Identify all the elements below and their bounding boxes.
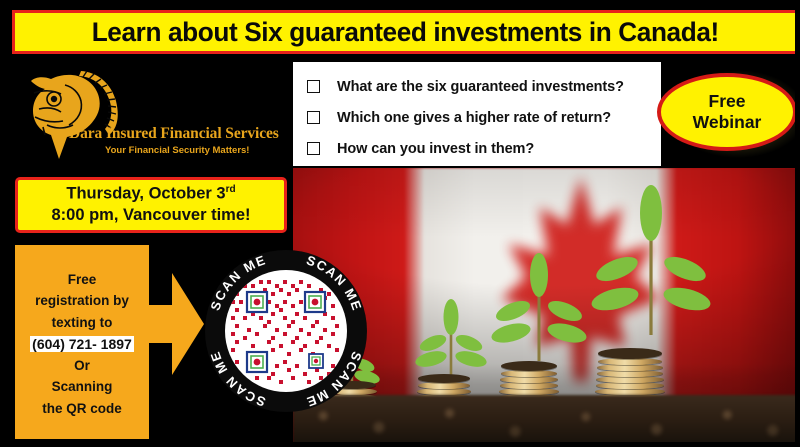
checkbox-icon — [307, 80, 320, 93]
question-text: What are the six guaranteed investments? — [337, 79, 624, 95]
right-arrow-icon — [146, 269, 204, 379]
registration-line-2: registration by — [35, 290, 129, 311]
qr-code-badge[interactable]: SCAN ME SCAN ME SCAN ME SCAN ME — [205, 250, 367, 412]
qr-finder-top-left — [247, 292, 267, 312]
event-datetime-bar: Thursday, October 3rd 8:00 pm, Vancouver… — [15, 177, 287, 233]
page-title: Learn about Six guaranteed investments i… — [91, 17, 718, 48]
badge-line-2: Webinar — [693, 112, 762, 133]
question-item: What are the six guaranteed investments? — [301, 71, 661, 102]
qr-finder-bottom-left — [247, 352, 267, 372]
flag-plants-photo — [293, 168, 798, 447]
badge-line-1: Free — [709, 91, 746, 112]
questions-panel: What are the six guaranteed investments?… — [293, 62, 661, 166]
qr-finder-top-right — [305, 292, 325, 312]
registration-line-1: Free — [68, 269, 97, 290]
question-item: How can you invest in them? — [301, 133, 661, 164]
question-text: Which one gives a higher rate of return? — [337, 110, 611, 126]
brand-logo-block: Dara Insured Financial Services Your Fin… — [13, 61, 289, 167]
title-banner: Learn about Six guaranteed investments i… — [12, 10, 798, 54]
registration-line-3: texting to — [52, 312, 113, 333]
poster-root: Learn about Six guaranteed investments i… — [0, 0, 800, 447]
soil-texture — [293, 395, 798, 447]
logo-tagline: Your Financial Security Matters! — [105, 145, 295, 156]
event-time: 8:00 pm, Vancouver time! — [52, 205, 251, 226]
question-text: How can you invest in them? — [337, 141, 534, 157]
qr-code-image[interactable] — [225, 270, 347, 392]
qr-alignment-pattern — [309, 354, 323, 368]
registration-line-7: the QR code — [42, 398, 122, 419]
registration-phone-number[interactable]: (604) 721- 1897 — [30, 336, 134, 352]
checkbox-icon — [307, 111, 320, 124]
registration-line-5: Or — [74, 355, 90, 376]
event-date-text: Thursday, October 3 — [66, 185, 225, 203]
logo-company-name: Dara Insured Financial Services — [69, 125, 289, 143]
event-date: Thursday, October 3rd — [66, 183, 235, 205]
registration-panel: Free registration by texting to (604) 72… — [15, 245, 149, 439]
question-item: Which one gives a higher rate of return? — [301, 102, 661, 133]
checkbox-icon — [307, 142, 320, 155]
event-date-ordinal: rd — [226, 184, 236, 195]
registration-line-6: Scanning — [52, 376, 113, 397]
free-webinar-badge: Free Webinar — [657, 73, 797, 151]
